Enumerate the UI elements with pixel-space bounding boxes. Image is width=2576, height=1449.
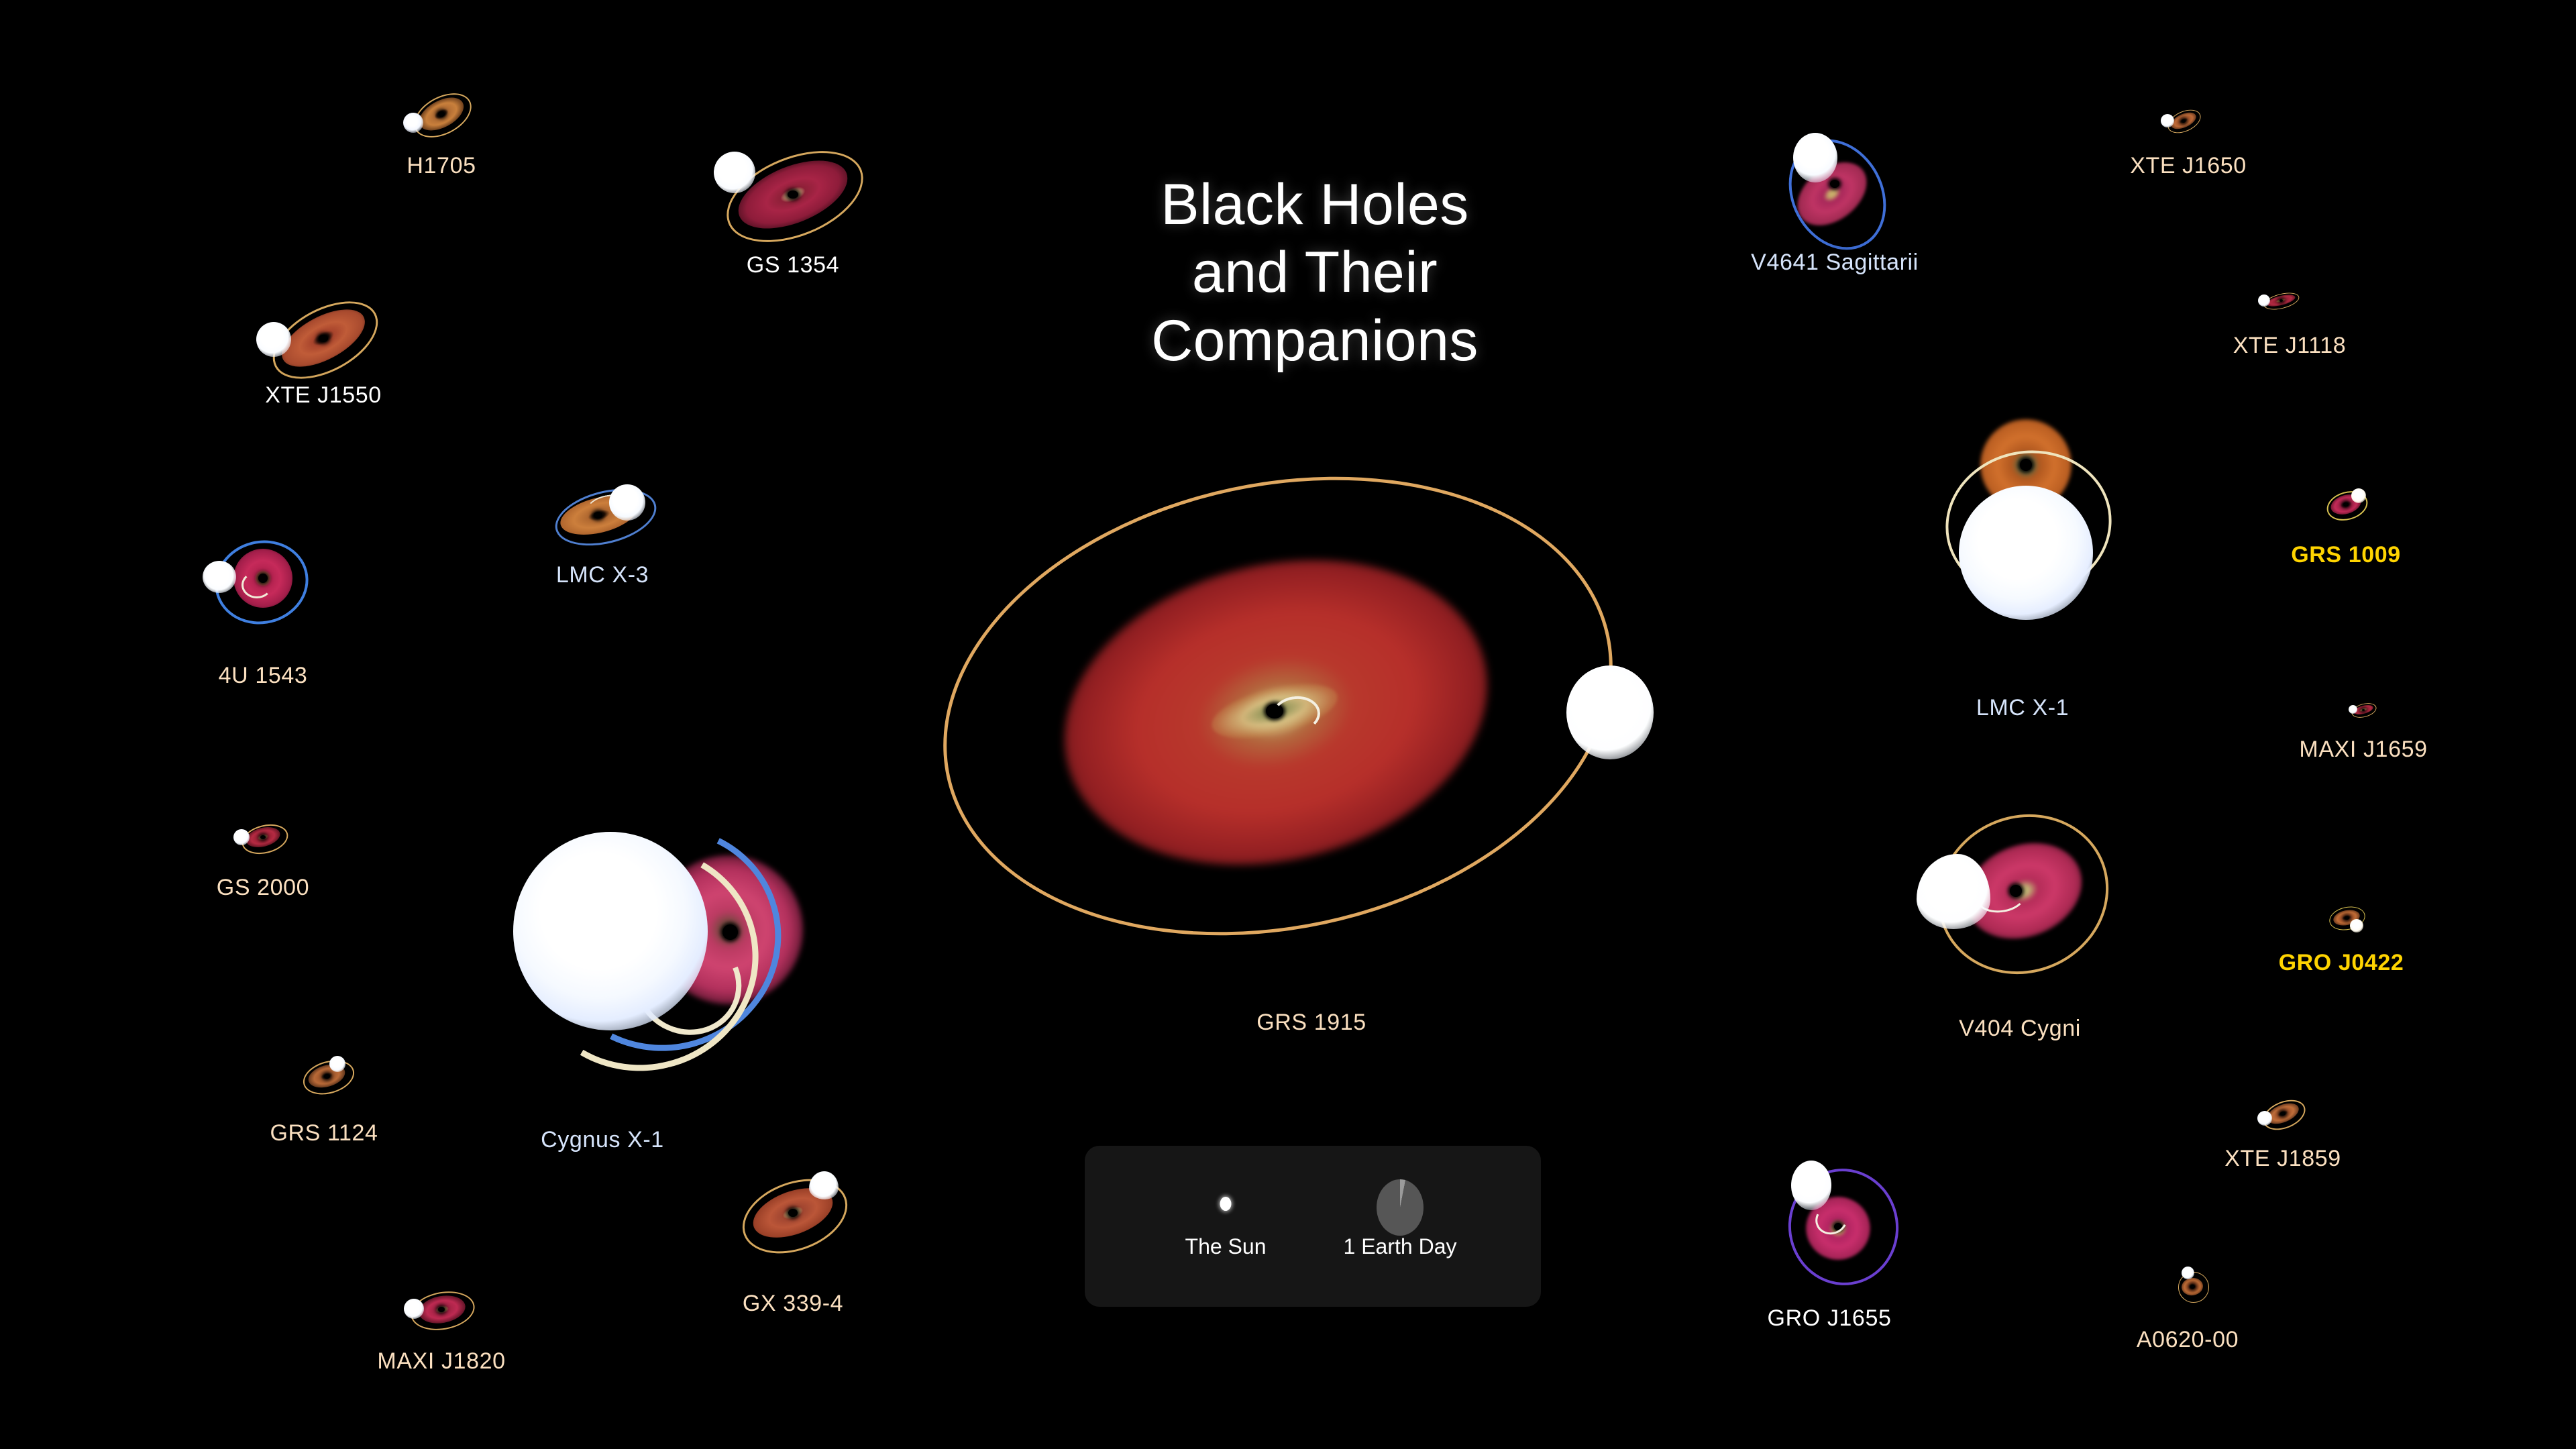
system-label: XTE J1550 (265, 382, 382, 409)
companion-star-icon (2351, 488, 2366, 503)
sky-canvas: Black Holes and Their Companions H1705 G… (0, 0, 2576, 1449)
sun-dot-icon (1220, 1197, 1232, 1211)
system-label: MAXI J1659 (2299, 737, 2427, 763)
system-label: V404 Cygni (1959, 1016, 2081, 1042)
companion-star-icon (403, 113, 423, 133)
system-label: GRO J1655 (1768, 1305, 1892, 1332)
companion-star-icon (203, 561, 236, 593)
companion-star-icon (2161, 114, 2174, 127)
companion-star-icon (513, 832, 708, 1030)
companion-star-icon (404, 1299, 424, 1319)
system-label: Cygnus X-1 (541, 1127, 664, 1153)
system-label: GRS 1915 (1256, 1010, 1366, 1036)
legend-label-earth-day: 1 Earth Day (1344, 1234, 1457, 1259)
companion-star-icon (2350, 919, 2363, 932)
system-label: A0620-00 (2137, 1327, 2239, 1353)
companion-star-icon (714, 152, 755, 193)
page-title: Black Holes and Their Companions (1033, 171, 1597, 375)
system-label: XTE J1650 (2130, 153, 2247, 179)
companion-star-icon (1917, 854, 1990, 929)
companion-star-icon (2257, 1111, 2272, 1126)
companion-star-icon (233, 829, 250, 845)
legend-label-sun: The Sun (1185, 1234, 1267, 1259)
orbit-ring (900, 417, 1656, 994)
system-label: GRS 1124 (270, 1120, 378, 1146)
system-label: H1705 (407, 153, 476, 179)
system-label: 4U 1543 (219, 663, 308, 689)
companion-star-icon (2258, 294, 2270, 307)
companion-star-icon (1566, 665, 1654, 759)
companion-star-icon (2182, 1267, 2194, 1279)
earth-day-pie-icon (1377, 1179, 1424, 1236)
system-label: XTE J1859 (2224, 1146, 2341, 1172)
system-label: LMC X-1 (1976, 695, 2069, 721)
companion-star-icon (609, 484, 645, 521)
system-label: GRO J0422 (2279, 950, 2404, 976)
companion-star-icon (1793, 133, 1837, 182)
system-label: GS 2000 (217, 875, 309, 901)
companion-star-icon tear (809, 1171, 839, 1199)
companion-star-icon (329, 1056, 345, 1072)
companion-star-icon (2349, 705, 2357, 714)
system-label: GRS 1009 (2291, 542, 2401, 568)
companion-star-icon (256, 322, 291, 357)
orbit-ring (1770, 122, 1905, 267)
orbit-ring (732, 1165, 857, 1267)
system-label: XTE J1118 (2233, 333, 2347, 359)
system-label: V4641 Sagittarii (1751, 250, 1919, 276)
orbit-ring (299, 1055, 358, 1100)
legend-item-earth-day: 1 Earth Day (1306, 1146, 1494, 1307)
companion-star-icon (1959, 486, 2093, 620)
scale-legend-panel: The Sun 1 Earth Day (1085, 1146, 1541, 1307)
system-label: GS 1354 (747, 252, 839, 278)
system-label: LMC X-3 (556, 562, 649, 588)
legend-item-sun: The Sun (1152, 1146, 1299, 1307)
companion-star-icon (1791, 1161, 1831, 1210)
system-label: GX 339-4 (743, 1291, 843, 1317)
system-label: MAXI J1820 (377, 1348, 505, 1375)
